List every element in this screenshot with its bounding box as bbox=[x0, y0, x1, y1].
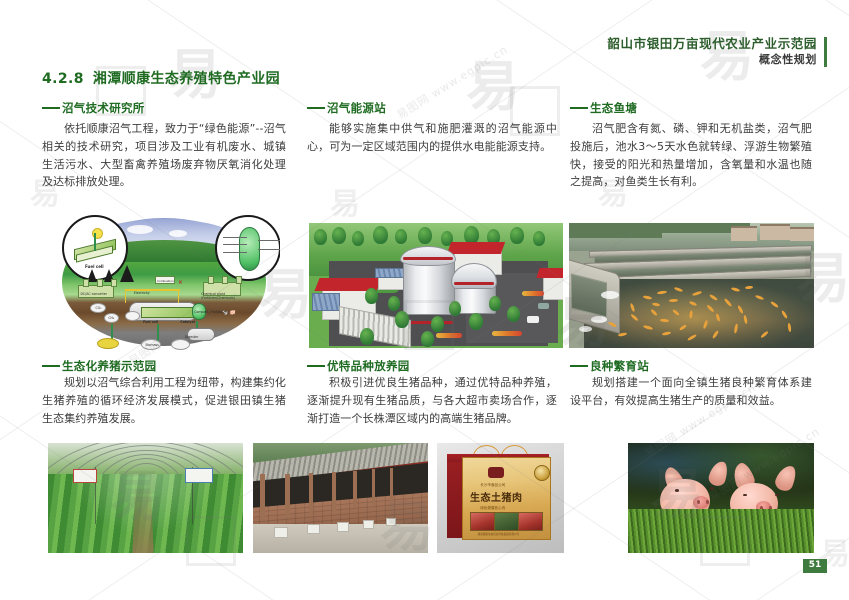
heading-dash-icon bbox=[570, 365, 588, 367]
heading-dash-icon bbox=[307, 365, 325, 367]
watermark-glyph: 易 bbox=[330, 190, 360, 220]
block-body-2: 能够实施集中供气和施肥灌溉的沼气能源中心，可为一定区域范围内的提供水电能能源支持… bbox=[307, 120, 557, 156]
product-title: 生态土猪肉 bbox=[470, 489, 523, 504]
section-title: 4.2.8湘潭顺康生态养殖特色产业园 bbox=[42, 68, 280, 88]
block-heading-5: 优特品种放养园 bbox=[307, 358, 410, 374]
block-heading-3: 生态鱼塘 bbox=[570, 100, 637, 116]
block-heading-4: 生态化养猪示范园 bbox=[42, 358, 156, 374]
block-heading-1: 沼气技术研究所 bbox=[42, 100, 145, 116]
product-footer: 湖南顺康生态农业科技发展有限公司 bbox=[478, 532, 520, 536]
watermark-glyph: 易 bbox=[466, 60, 520, 114]
section-number: 4.2.8 bbox=[42, 71, 84, 87]
image-ecological-fish-pond-photo bbox=[569, 223, 814, 348]
image-greenhouse-vegetable-photo bbox=[48, 443, 243, 553]
block-heading-2: 沼气能源站 bbox=[307, 100, 386, 116]
product-subtitle: 绿色健康放心肉 bbox=[480, 506, 505, 511]
header-title: 韶山市银田万亩现代农业产业示范园 bbox=[607, 36, 817, 52]
heading-dash-icon bbox=[570, 107, 588, 109]
block-body-6: 规划搭建一个面向全镇生猪良种繁育体系建设平台，有效提高生猪生产的质量和效益。 bbox=[570, 374, 812, 410]
heading-dash-icon bbox=[42, 365, 60, 367]
page-number-badge: 51 bbox=[803, 559, 827, 573]
image-biogas-fuel-cell-diagram: Fuel cell bbox=[48, 212, 280, 352]
image-biogas-energy-station-render bbox=[309, 223, 563, 348]
heading-dash-icon bbox=[307, 107, 325, 109]
block-body-4: 规划以沼气综合利用工程为纽带，构建集约化生猪养殖的循环经济发展模式，促进银田镇生… bbox=[42, 374, 286, 427]
header-subtitle: 概念性规划 bbox=[607, 53, 817, 68]
heading-dash-icon bbox=[42, 107, 60, 109]
image-pig-barn-photo bbox=[253, 443, 428, 553]
block-heading-6: 良种繁育站 bbox=[570, 358, 649, 374]
page-header: 韶山市银田万亩现代农业产业示范园 概念性规划 bbox=[607, 36, 827, 67]
header-accent-bar bbox=[824, 37, 827, 67]
section-title-text: 湘潭顺康生态养殖特色产业园 bbox=[93, 71, 280, 87]
block-body-5: 积极引进优良生猪品种，通过优特品种养殖，逐渐提升现有生猪品质，与各大超市卖场合作… bbox=[307, 374, 557, 427]
image-pork-gift-box-photo: 长沙市食品公司 生态土猪肉 绿色健康放心肉 湖南顺康生态农业科技发展有限公司 bbox=[437, 443, 564, 553]
product-brand-label: 长沙市食品公司 bbox=[480, 483, 505, 488]
block-body-1: 依托顺康沼气工程，致力于“绿色能源”--沼气相关的技术研究，项目涉及工业有机废水… bbox=[42, 120, 286, 191]
watermark-site-text: 易图网 www.egpic.cn bbox=[394, 41, 511, 123]
slide-page: 韶山市银田万亩现代农业产业示范园 概念性规划 4.2.8湘潭顺康生态养殖特色产业… bbox=[0, 0, 849, 600]
block-body-3: 沼气肥含有氮、磷、钾和无机盐类，沼气肥投施后，池水3～5天水色就转绿、浮游生物繁… bbox=[570, 120, 812, 191]
image-pigs-in-grass-photo bbox=[628, 443, 814, 553]
